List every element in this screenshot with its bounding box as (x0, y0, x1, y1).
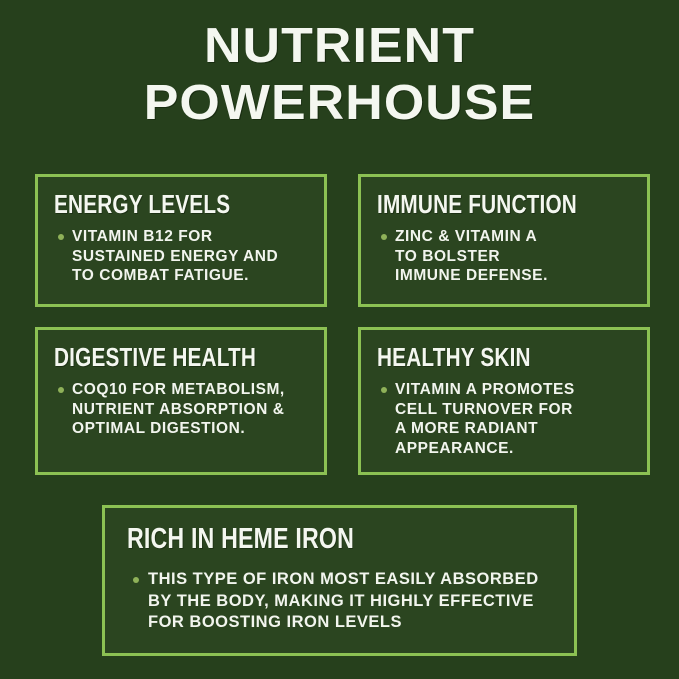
bullet-dot-icon (381, 387, 387, 393)
benefit-bullet-text: COQ10 FOR METABOLISM, NUTRIENT ABSORPTIO… (72, 380, 285, 439)
bullet-dot-icon (58, 387, 64, 393)
benefit-card-heading: RICH IN HEME IRON (127, 524, 467, 555)
benefit-card-immune-function: IMMUNE FUNCTION ZINC & VITAMIN A TO BOLS… (358, 174, 650, 307)
benefit-card-energy-levels: ENERGY LEVELS VITAMIN B12 FOR SUSTAINED … (35, 174, 327, 307)
page-title-line-2: POWERHOUSE (0, 75, 679, 132)
benefit-bullet-text: VITAMIN B12 FOR SUSTAINED ENERGY AND TO … (72, 227, 278, 286)
benefit-card-healthy-skin: HEALTHY SKIN VITAMIN A PROMOTES CELL TUR… (358, 327, 650, 475)
benefit-bullet: VITAMIN A PROMOTES CELL TURNOVER FOR A M… (377, 380, 631, 458)
benefit-card-heading: HEALTHY SKIN (377, 343, 580, 371)
bullet-dot-icon (381, 234, 387, 240)
benefit-bullet: THIS TYPE OF IRON MOST EASILY ABSORBED B… (127, 569, 552, 634)
nutrient-powerhouse-infographic: NUTRIENT POWERHOUSE ENERGY LEVELS VITAMI… (0, 0, 679, 679)
bullet-dot-icon (133, 577, 139, 583)
benefit-bullet-text: THIS TYPE OF IRON MOST EASILY ABSORBED B… (148, 569, 539, 634)
benefit-bullet-text: ZINC & VITAMIN A TO BOLSTER IMMUNE DEFEN… (395, 227, 548, 286)
page-title: NUTRIENT POWERHOUSE (0, 18, 679, 132)
benefit-card-digestive-health: DIGESTIVE HEALTH COQ10 FOR METABOLISM, N… (35, 327, 327, 475)
benefit-card-heading: ENERGY LEVELS (54, 190, 257, 218)
bullet-dot-icon (58, 234, 64, 240)
benefit-bullet-text: VITAMIN A PROMOTES CELL TURNOVER FOR A M… (395, 380, 575, 458)
benefit-card-heading: DIGESTIVE HEALTH (54, 343, 257, 371)
benefit-bullet: ZINC & VITAMIN A TO BOLSTER IMMUNE DEFEN… (377, 227, 631, 286)
benefit-bullet: COQ10 FOR METABOLISM, NUTRIENT ABSORPTIO… (54, 380, 308, 439)
benefit-card-rich-in-heme-iron: RICH IN HEME IRON THIS TYPE OF IRON MOST… (102, 505, 577, 656)
benefit-bullet: VITAMIN B12 FOR SUSTAINED ENERGY AND TO … (54, 227, 308, 286)
page-title-line-1: NUTRIENT (0, 18, 679, 75)
benefit-card-heading: IMMUNE FUNCTION (377, 190, 580, 218)
